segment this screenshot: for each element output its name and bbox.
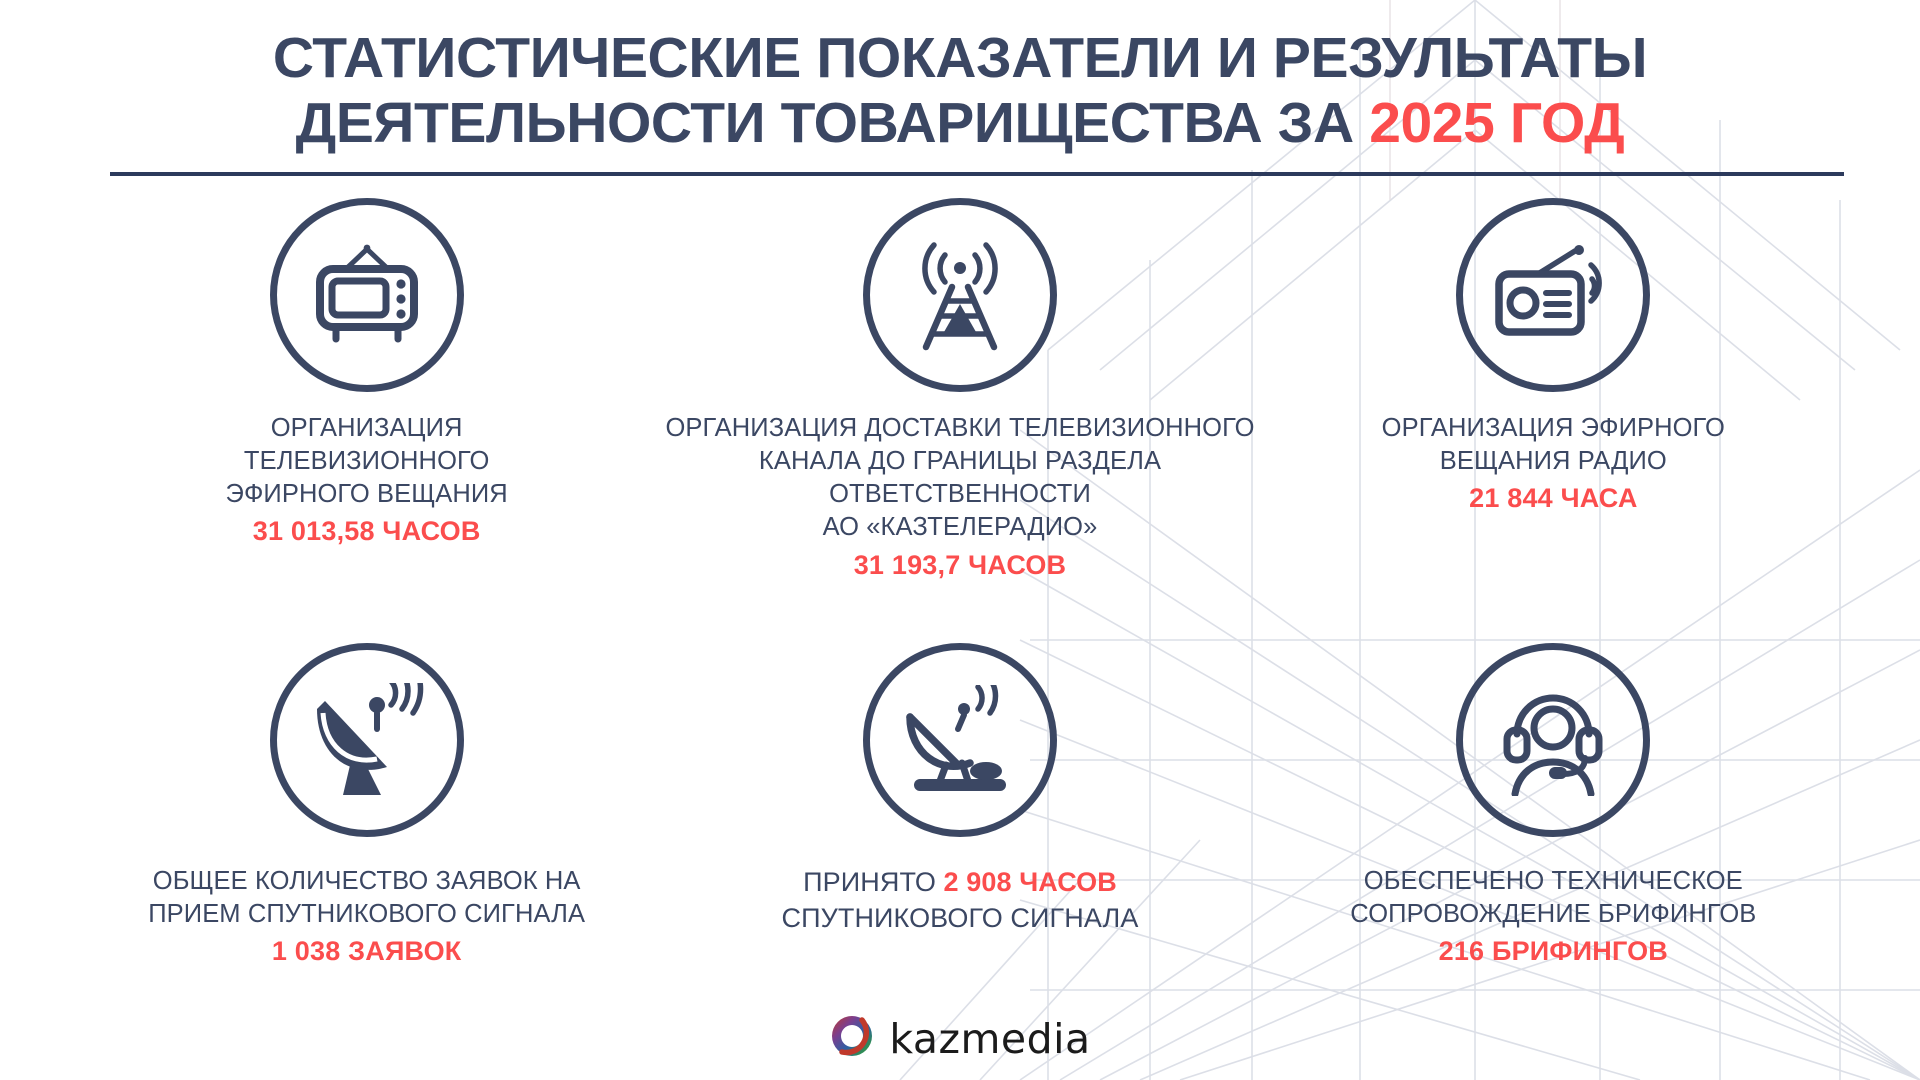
stat-card-value: 1 038 ЗАЯВОК [272,936,462,967]
kazmedia-ring-icon [829,1013,875,1064]
radio-icon [1491,243,1615,347]
broadcast-tower-icon-circle [863,198,1057,392]
stat-card-label: ОБЩЕЕ КОЛИЧЕСТВО ЗАЯВОК НА ПРИЕМ СПУТНИК… [148,865,585,931]
stat-card-label: ОРГАНИЗАЦИЯ ЭФИРНОГО ВЕЩАНИЯ РАДИО [1382,412,1725,478]
stats-grid: ОРГАНИЗАЦИЯ ТЕЛЕВИЗИОННОГО ЭФИРНОГО ВЕЩА… [0,176,1920,1080]
page-title-line-2: ДЕЯТЕЛЬНОСТИ ТОВАРИЩЕСТВА ЗА 2025 ГОД [110,91,1810,156]
stat-card-radio-broadcast: ОРГАНИЗАЦИЯ ЭФИРНОГО ВЕЩАНИЯ РАДИО 21 84… [1257,190,1850,635]
page-title-year: 2025 ГОД [1369,91,1624,155]
stat-card-label: ОРГАНИЗАЦИЯ ДОСТАВКИ ТЕЛЕВИЗИОННОГО КАНА… [663,412,1256,545]
stat-card-label-highlight: 2 908 ЧАСОВ [944,867,1117,897]
stat-card-value: 21 844 ЧАСА [1469,483,1637,514]
broadcast-tower-icon [902,235,1018,355]
stat-card-value: 31 193,7 ЧАСОВ [854,550,1067,581]
stat-card-value: 31 013,58 ЧАСОВ [253,516,481,547]
satellite-dish-icon [307,683,427,797]
stat-card-label-prefix: ПРИНЯТО [803,867,943,897]
satellite-dish-ground-icon [898,685,1022,795]
stat-card-label: ОРГАНИЗАЦИЯ ТЕЛЕВИЗИОННОГО ЭФИРНОГО ВЕЩА… [226,412,508,511]
headset-operator-icon [1495,684,1611,796]
tv-icon [308,239,426,351]
footer: kazmedia [0,1013,1920,1064]
tv-icon-circle [270,198,464,392]
satellite-dish-icon-circle [270,643,464,837]
headset-operator-icon-circle [1456,643,1650,837]
radio-icon-circle [1456,198,1650,392]
header: СТАТИСТИЧЕСКИЕ ПОКАЗАТЕЛИ И РЕЗУЛЬТАТЫ Д… [0,0,1920,176]
stat-card-tv-broadcast: ОРГАНИЗАЦИЯ ТЕЛЕВИЗИОННОГО ЭФИРНОГО ВЕЩА… [70,190,663,635]
stat-card-label: ОБЕСПЕЧЕНО ТЕХНИЧЕСКОЕ СОПРОВОЖДЕНИЕ БРИ… [1350,865,1756,931]
satellite-dish-ground-icon-circle [863,643,1057,837]
page-title-line-1: СТАТИСТИЧЕСКИЕ ПОКАЗАТЕЛИ И РЕЗУЛЬТАТЫ [110,26,1810,91]
kazmedia-wordmark: kazmedia [889,1015,1090,1063]
stat-card-label-suffix: СПУТНИКОВОГО СИГНАЛА [782,903,1139,933]
page-title-line-2-prefix: ДЕЯТЕЛЬНОСТИ ТОВАРИЩЕСТВА ЗА [296,91,1370,155]
page-title: СТАТИСТИЧЕСКИЕ ПОКАЗАТЕЛИ И РЕЗУЛЬТАТЫ Д… [110,26,1810,156]
kazmedia-logo: kazmedia [829,1013,1090,1064]
stat-card-tv-delivery: ОРГАНИЗАЦИЯ ДОСТАВКИ ТЕЛЕВИЗИОННОГО КАНА… [663,190,1256,635]
stat-card-value: 216 БРИФИНГОВ [1439,936,1668,967]
stat-card-label: ПРИНЯТО 2 908 ЧАСОВ СПУТНИКОВОГО СИГНАЛА [782,865,1139,936]
